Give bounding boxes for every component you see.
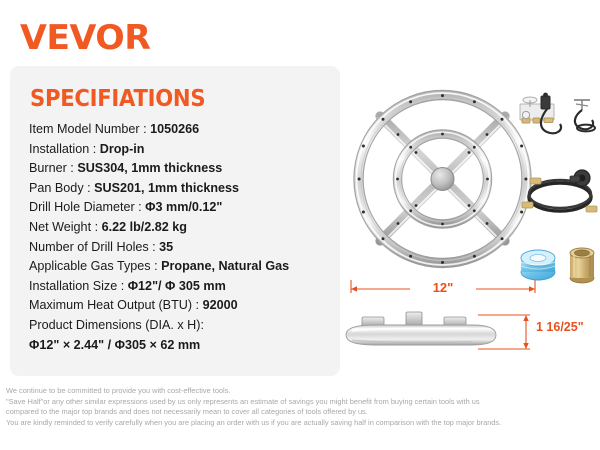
- specifications-panel: SPECIFIATIONS Item Model Number : 105026…: [10, 66, 340, 376]
- footer-line: You are kindly reminded to verify carefu…: [6, 418, 596, 429]
- spec-row-max-heat-output: Maximum Heat Output (BTU) : 92000: [29, 296, 334, 316]
- spec-value: SUS201, 1mm thickness: [94, 181, 239, 195]
- spec-row-drill-hole-count: Number of Drill Holes : 35: [29, 238, 334, 258]
- gas-hose-with-regulator: [516, 164, 600, 224]
- footer-disclaimer: We continue to be committed to provide y…: [6, 386, 596, 428]
- spec-row-model: Item Model Number : 1050266: [29, 120, 334, 140]
- product-spec-image: VEVOR SPECIFIATIONS Item Model Number : …: [0, 0, 600, 450]
- spec-value: Drop-in: [100, 142, 145, 156]
- spec-value: Φ12" × 2.44" / Φ305 × 62 mm: [29, 336, 334, 356]
- spec-value: Φ12"/ Φ 305 mm: [128, 279, 226, 293]
- spec-key: Installation :: [29, 142, 96, 156]
- height-dimension-line: [478, 311, 538, 361]
- fire-pit-burner-ring: [350, 86, 535, 276]
- specifications-list: Item Model Number : 1050266 Installation…: [29, 120, 334, 355]
- footer-line: compared to the major top brands and doe…: [6, 407, 596, 418]
- spec-key: Drill Hole Diameter :: [29, 200, 142, 214]
- spec-value: Propane, Natural Gas: [161, 259, 289, 273]
- footer-line: We continue to be committed to provide y…: [6, 386, 596, 397]
- specifications-heading: SPECIFIATIONS: [30, 86, 205, 112]
- spec-key: Installation Size :: [29, 279, 124, 293]
- diameter-dimension-line: 12": [348, 280, 538, 298]
- spec-value: Φ3 mm/0.12": [145, 200, 222, 214]
- spec-key: Item Model Number :: [29, 122, 147, 136]
- diameter-label: 12": [348, 280, 538, 295]
- spec-row-pan-body: Pan Body : SUS201, 1mm thickness: [29, 179, 334, 199]
- spec-row-net-weight: Net Weight : 6.22 lb/2.82 kg: [29, 218, 334, 238]
- spec-key: Pan Body :: [29, 181, 91, 195]
- height-label: 1 16/25": [536, 320, 584, 334]
- footer-line: "Save Half"or any other similar expressi…: [6, 397, 596, 408]
- spec-key: Maximum Heat Output (BTU) :: [29, 298, 199, 312]
- spec-key: Applicable Gas Types :: [29, 259, 158, 273]
- spec-row-product-dimensions: Product Dimensions (DIA. x H):Φ12" × 2.4…: [29, 316, 334, 355]
- teflon-tape-and-brass-fitting: [516, 238, 600, 288]
- spec-value: 35: [159, 240, 173, 254]
- spec-key: Burner :: [29, 161, 74, 175]
- product-artwork: 12": [340, 68, 600, 378]
- spec-row-drill-hole-diameter: Drill Hole Diameter : Φ3 mm/0.12": [29, 198, 334, 218]
- spec-row-installation-size: Installation Size : Φ12"/ Φ 305 mm: [29, 277, 334, 297]
- spec-value: 92000: [203, 298, 238, 312]
- spec-row-gas-types: Applicable Gas Types : Propane, Natural …: [29, 257, 334, 277]
- spec-row-burner: Burner : SUS304, 1mm thickness: [29, 159, 334, 179]
- spec-key: Net Weight :: [29, 220, 98, 234]
- spec-row-installation: Installation : Drop-in: [29, 140, 334, 160]
- spec-key: Number of Drill Holes :: [29, 240, 156, 254]
- spec-value: 6.22 lb/2.82 kg: [102, 220, 187, 234]
- vevor-logo: VEVOR: [20, 18, 150, 58]
- spec-value: SUS304, 1mm thickness: [77, 161, 222, 175]
- spec-value: 1050266: [150, 122, 199, 136]
- valve-and-ignition-kit: [516, 88, 600, 150]
- spec-key: Product Dimensions (DIA. x H):: [29, 318, 204, 332]
